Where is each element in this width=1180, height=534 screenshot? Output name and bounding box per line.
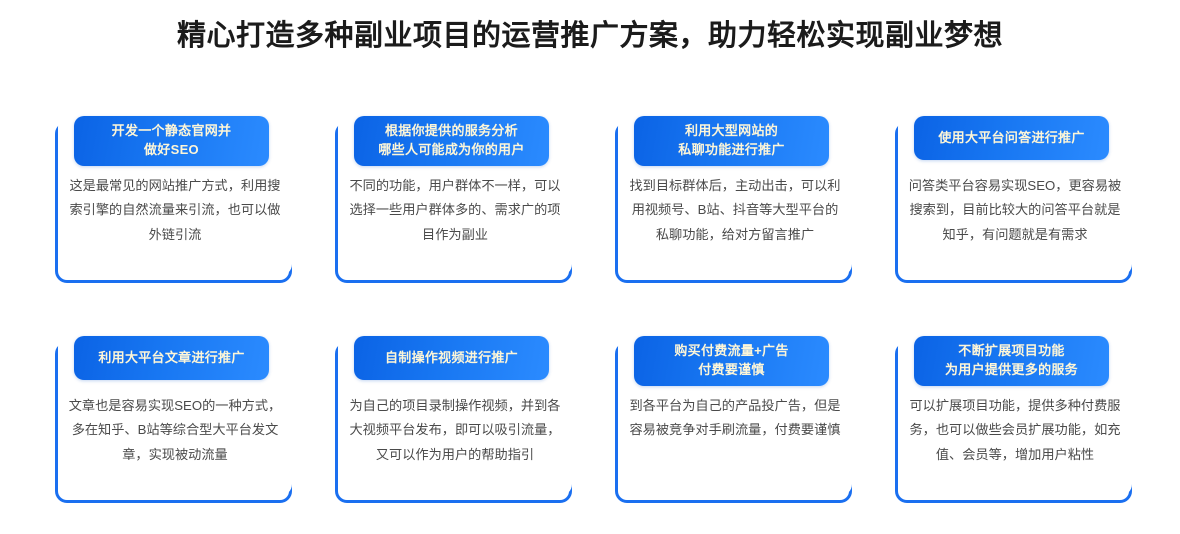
card-badge: 使用大平台问答进行推广 xyxy=(914,116,1109,160)
card-body-text: 问答类平台容易实现SEO，更容易被搜索到，目前比较大的问答平台就是知乎，有问题就… xyxy=(906,174,1124,247)
card-grid: 开发一个静态官网并 做好SEO 这是最常见的网站推广方式，利用搜索引擎的自然流量… xyxy=(52,108,1132,503)
card-badge-label: 开发一个静态官网并 做好SEO xyxy=(112,122,232,160)
page-title: 精心打造多种副业项目的运营推广方案，助力轻松实现副业梦想 xyxy=(0,18,1180,56)
promotion-plan-infographic: 精心打造多种副业项目的运营推广方案，助力轻松实现副业梦想 开发一个静态官网并 做… xyxy=(0,0,1180,534)
card-qa-platform[interactable]: 使用大平台问答进行推广 问答类平台容易实现SEO，更容易被搜索到，目前比较大的问… xyxy=(892,108,1132,283)
card-badge: 开发一个静态官网并 做好SEO xyxy=(74,116,269,166)
card-badge-label: 自制操作视频进行推广 xyxy=(385,349,518,368)
card-badge-label: 使用大平台问答进行推广 xyxy=(938,129,1084,148)
card-tutorial-video[interactable]: 自制操作视频进行推广 为自己的项目录制操作视频，并到各大视频平台发布，即可以吸引… xyxy=(332,328,572,503)
card-analyze-users[interactable]: 根据你提供的服务分析 哪些人可能成为你的用户 不同的功能，用户群体不一样，可以选… xyxy=(332,108,572,283)
card-badge: 不断扩展项目功能 为用户提供更多的服务 xyxy=(914,336,1109,386)
card-badge: 利用大平台文章进行推广 xyxy=(74,336,269,380)
card-expand-features[interactable]: 不断扩展项目功能 为用户提供更多的服务 可以扩展项目功能，提供多种付费服务，也可… xyxy=(892,328,1132,503)
card-badge: 购买付费流量+广告 付费要谨慎 xyxy=(634,336,829,386)
card-static-site-seo[interactable]: 开发一个静态官网并 做好SEO 这是最常见的网站推广方式，利用搜索引擎的自然流量… xyxy=(52,108,292,283)
card-private-chat[interactable]: 利用大型网站的 私聊功能进行推广 找到目标群体后，主动出击，可以利用视频号、B站… xyxy=(612,108,852,283)
card-body-text: 文章也是容易实现SEO的一种方式，多在知乎、B站等综合型大平台发文章，实现被动流… xyxy=(66,394,284,467)
card-body-text: 找到目标群体后，主动出击，可以利用视频号、B站、抖音等大型平台的私聊功能，给对方… xyxy=(626,174,844,247)
card-badge-label: 购买付费流量+广告 付费要谨慎 xyxy=(674,342,788,380)
card-body-text: 为自己的项目录制操作视频，并到各大视频平台发布，即可以吸引流量，又可以作为用户的… xyxy=(346,394,564,467)
card-body-text: 可以扩展项目功能，提供多种付费服务，也可以做些会员扩展功能，如充值、会员等，增加… xyxy=(906,394,1124,467)
card-badge: 根据你提供的服务分析 哪些人可能成为你的用户 xyxy=(354,116,549,166)
card-articles[interactable]: 利用大平台文章进行推广 文章也是容易实现SEO的一种方式，多在知乎、B站等综合型… xyxy=(52,328,292,503)
card-badge: 自制操作视频进行推广 xyxy=(354,336,549,380)
card-body-text: 到各平台为自己的产品投广告，但是容易被竞争对手刷流量，付费要谨慎 xyxy=(626,394,844,443)
card-body-text: 这是最常见的网站推广方式，利用搜索引擎的自然流量来引流，也可以做外链引流 xyxy=(66,174,284,247)
card-badge-label: 利用大平台文章进行推广 xyxy=(98,349,244,368)
card-badge-label: 不断扩展项目功能 为用户提供更多的服务 xyxy=(945,342,1078,380)
card-badge-label: 利用大型网站的 私聊功能进行推广 xyxy=(678,122,784,160)
card-badge: 利用大型网站的 私聊功能进行推广 xyxy=(634,116,829,166)
card-badge-label: 根据你提供的服务分析 哪些人可能成为你的用户 xyxy=(378,122,524,160)
card-body-text: 不同的功能，用户群体不一样，可以选择一些用户群体多的、需求广的项目作为副业 xyxy=(346,174,564,247)
card-paid-traffic[interactable]: 购买付费流量+广告 付费要谨慎 到各平台为自己的产品投广告，但是容易被竞争对手刷… xyxy=(612,328,852,503)
